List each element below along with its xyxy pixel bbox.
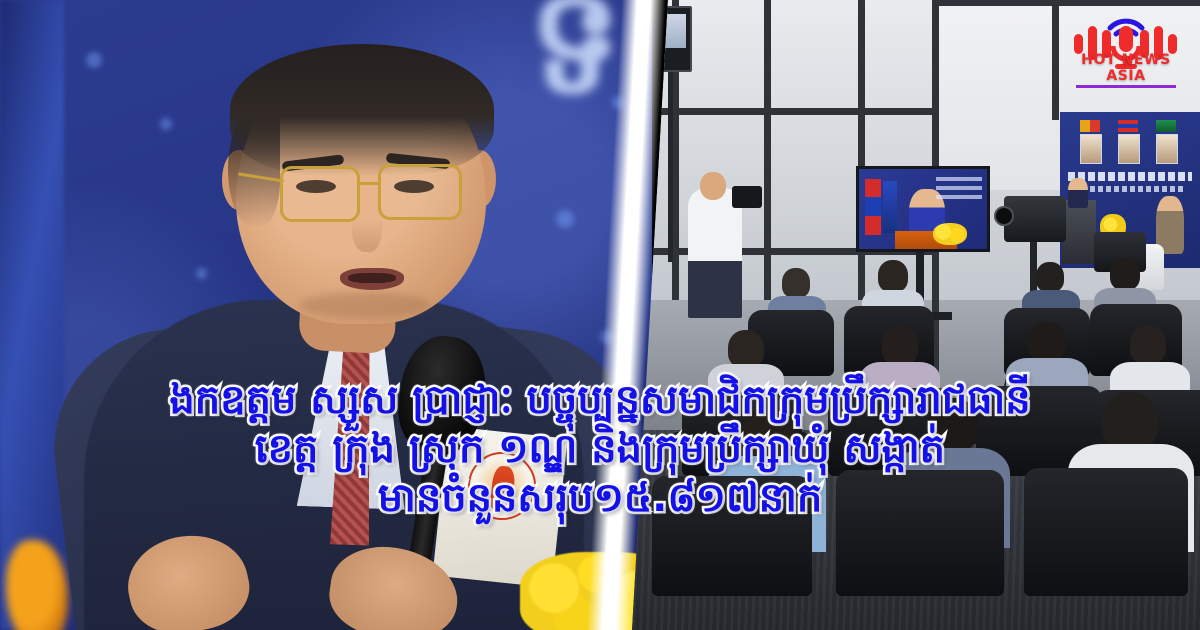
audience-head — [1028, 322, 1066, 362]
hair — [230, 44, 494, 176]
logo-wordmark: HOT NEWS ASIA — [1066, 52, 1186, 84]
window-mullion — [1052, 0, 1059, 120]
news-graphic-stage: ទ — [0, 0, 1200, 630]
photographer-camera — [732, 186, 762, 208]
framed-portrait — [1156, 134, 1178, 164]
party-flag-icon — [1156, 120, 1176, 132]
bokeh-dot — [86, 52, 102, 68]
cambodia-flag-icon — [1118, 120, 1138, 132]
monitor-pole — [668, 72, 673, 262]
eyeglass-bridge — [358, 182, 380, 185]
tv-screen-broadcast — [856, 166, 990, 252]
audience-head — [882, 326, 918, 366]
buddhist-flag-icon — [1080, 120, 1100, 132]
tv-flag-blue — [883, 181, 897, 233]
banner-headline-text — [1068, 172, 1192, 181]
tv-flowers — [933, 223, 967, 245]
photo-press-conference-audience — [632, 0, 1200, 630]
logo-underline — [1076, 85, 1176, 88]
chin-shadow — [300, 292, 430, 318]
hot-news-asia-logo[interactable]: HOT NEWS ASIA — [1066, 6, 1186, 90]
bokeh-dot — [160, 118, 172, 130]
stage-speaker — [1068, 178, 1088, 208]
mouth-opening — [348, 273, 396, 283]
audience-head — [728, 330, 764, 368]
banner-subtitle-text — [1074, 186, 1186, 192]
podium — [1062, 200, 1096, 264]
backdrop-banner-strip — [0, 0, 64, 630]
framed-portrait — [1080, 134, 1102, 164]
bokeh-dot — [556, 210, 574, 228]
audience-head — [1130, 326, 1166, 364]
audience-head — [878, 260, 908, 292]
audience-head — [782, 268, 810, 298]
bokeh-dot — [196, 268, 207, 279]
photo-official-speaking: ទ — [0, 0, 652, 630]
framed-portrait — [1118, 134, 1140, 164]
audience-head — [1036, 262, 1064, 292]
window-mullion — [764, 0, 771, 300]
photographer-head — [700, 172, 726, 200]
camera-lens-icon — [994, 206, 1014, 226]
caption-line-3: មានចំនួនសរុប១៥.៨១៧នាក់ — [0, 474, 1200, 523]
caption-overlay: ងកឧត្តម ស្សួស ប្រាជ្ញាៈ បច្ចុប្បន្នសមាជិ… — [0, 376, 1200, 522]
tv-flag-cambodia — [865, 179, 881, 235]
tv-khmer-caption — [936, 177, 982, 203]
eyeglass-lens-right — [378, 164, 462, 220]
window-mullion — [632, 108, 934, 115]
eyeglass-lens-left — [280, 166, 360, 222]
caption-line-1: ងកឧត្តម ស្សួស ប្រាជ្ញាៈ បច្ចុប្បន្នសមាជិ… — [0, 376, 1200, 425]
window-mullion — [858, 0, 865, 300]
caption-line-2: ខេត្ត ក្រុង ស្រុក ១ណ្ឌ និងក្រុមប្រឹក្សាឃ… — [0, 425, 1200, 474]
audience-head — [1110, 258, 1140, 290]
